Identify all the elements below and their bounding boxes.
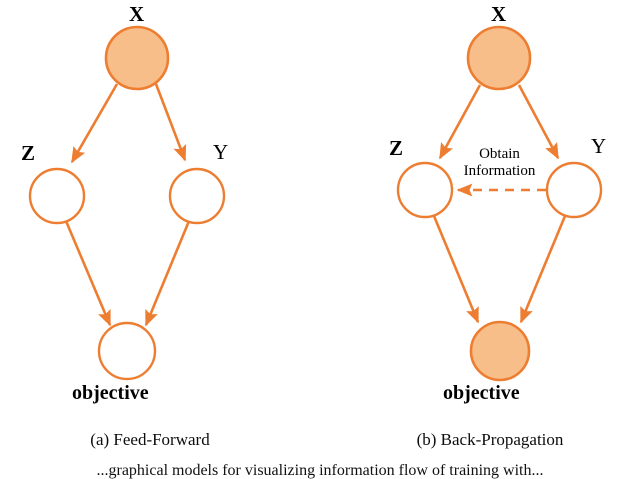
node-y[interactable] bbox=[170, 169, 224, 223]
node-label-objective: objective bbox=[72, 383, 149, 403]
node-z[interactable] bbox=[30, 169, 84, 223]
node-y[interactable] bbox=[547, 163, 601, 217]
node-x[interactable] bbox=[468, 27, 530, 89]
edge-y-to-objective bbox=[521, 216, 565, 322]
node-label-y: Y bbox=[213, 142, 228, 163]
figure-root: X Z Y objective X Z Y objective Obtain I… bbox=[0, 0, 640, 479]
edge-x-to-z bbox=[72, 84, 117, 162]
node-objective[interactable] bbox=[99, 323, 155, 379]
diagram-canvas bbox=[0, 0, 640, 479]
panel-feed-forward bbox=[30, 27, 224, 379]
edge-y-to-objective bbox=[146, 221, 189, 325]
body-caption: ...graphical models for visualizing info… bbox=[0, 462, 640, 479]
node-z[interactable] bbox=[398, 163, 452, 217]
edge-x-to-y bbox=[156, 84, 185, 160]
panel-back-propagation bbox=[398, 27, 601, 380]
node-x[interactable] bbox=[106, 27, 168, 89]
node-label-z: Z bbox=[21, 143, 35, 164]
annotation-line-1: Obtain bbox=[453, 146, 546, 163]
node-label-z: Z bbox=[389, 138, 403, 159]
annotation-obtain-information: Obtain Information bbox=[453, 146, 546, 180]
edge-z-to-objective bbox=[66, 221, 110, 325]
node-objective[interactable] bbox=[471, 322, 529, 380]
node-label-y: Y bbox=[591, 136, 606, 157]
node-label-x: X bbox=[491, 4, 506, 25]
annotation-line-2: Information bbox=[453, 163, 546, 180]
node-label-objective: objective bbox=[443, 383, 520, 403]
subcaption-feed-forward: (a) Feed-Forward bbox=[0, 430, 300, 450]
node-label-x: X bbox=[129, 4, 144, 25]
edge-z-to-objective bbox=[434, 216, 478, 322]
subcaption-back-propagation: (b) Back-Propagation bbox=[340, 430, 640, 450]
